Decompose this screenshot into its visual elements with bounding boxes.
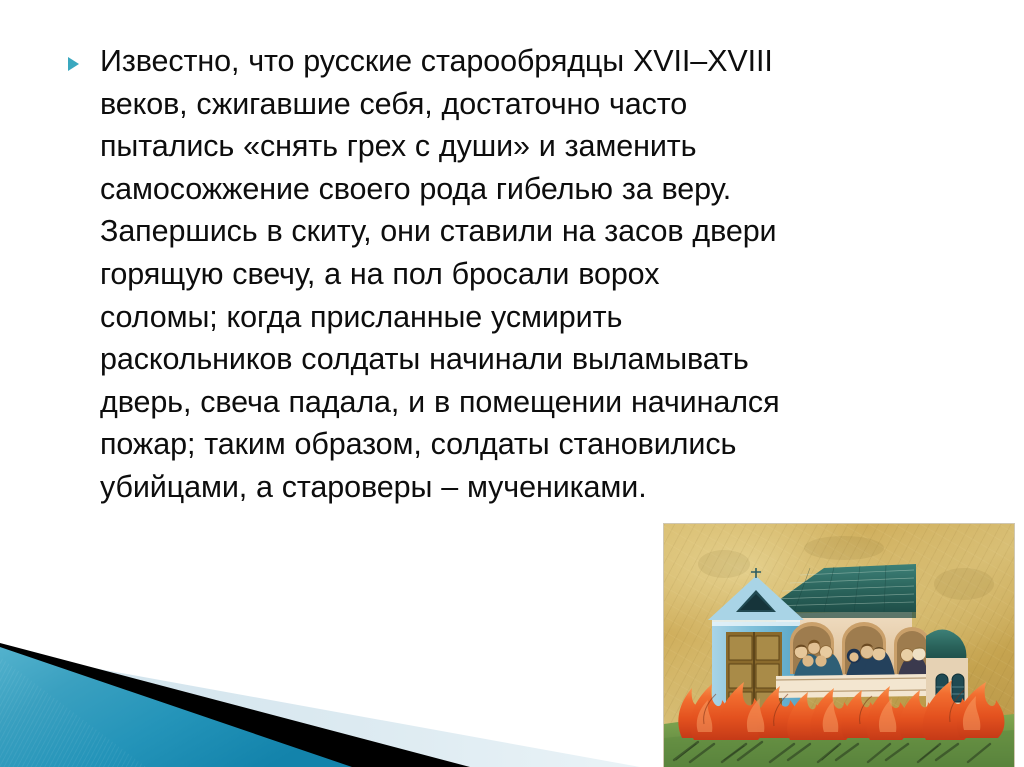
band-teal xyxy=(0,647,352,767)
bullet-list-item: Известно, что русские старообрядцы XVII–… xyxy=(62,40,962,509)
miniature-artwork xyxy=(664,524,1014,767)
triangle-bullet-icon xyxy=(68,57,79,71)
band-black xyxy=(0,643,470,767)
band-pale-blue xyxy=(0,651,640,767)
body-paragraph: Известно, что русские старообрядцы XVII–… xyxy=(100,40,962,509)
illustration-medieval-miniature xyxy=(664,524,1014,767)
band-texture-overlay xyxy=(0,637,400,767)
presentation-slide: Известно, что русские старообрядцы XVII–… xyxy=(0,0,1024,767)
slide-body-content: Известно, что русские старообрядцы XVII–… xyxy=(62,40,962,509)
